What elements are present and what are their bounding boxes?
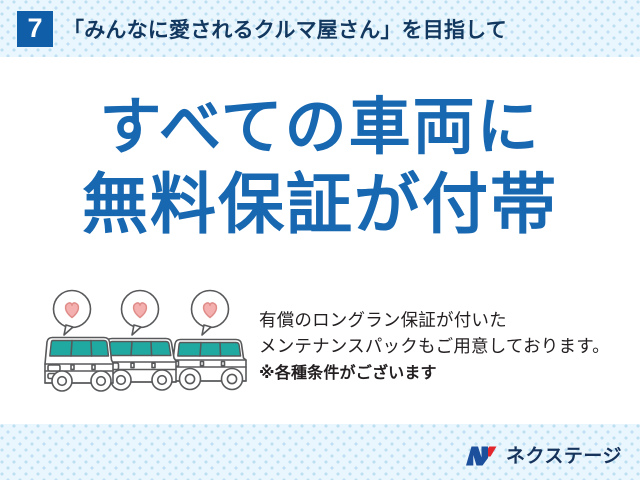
headline: すべての車両に 無料保証が付帯 (0, 97, 640, 237)
heart-bubble-3 (192, 291, 229, 336)
headline-line-2: 無料保証が付帯 (0, 171, 640, 237)
body-copy-line-2: メンテナンスパックもご用意しております。 (259, 333, 629, 359)
heart-bubble-1 (54, 291, 91, 336)
cars-illustration (40, 288, 255, 400)
car-suv-right (173, 340, 246, 390)
advertisement-banner: 7 「みんなに愛されるクルマ屋さん」を目指して すべての車両に 無料保証が付帯 (0, 0, 640, 480)
section-number-label: 7 (27, 15, 42, 42)
section-number-badge: 7 (17, 11, 53, 47)
header-title: 「みんなに愛されるクルマ屋さん」を目指して (63, 13, 507, 45)
car-minivan-middle (103, 339, 176, 391)
body-copy-line-1: 有償のロングラン保証が付いた (259, 307, 629, 333)
heart-bubble-2 (122, 291, 159, 336)
nextage-n-logo-icon (465, 444, 499, 468)
brand-logo: ネクステージ (465, 441, 622, 471)
car-wagon-left (45, 338, 113, 392)
headline-line-1: すべての車両に (0, 97, 640, 159)
body-copy-note: ※各種条件がございます (259, 361, 629, 387)
brand-name: ネクステージ (506, 447, 622, 466)
body-copy: 有償のロングラン保証が付いた メンテナンスパックもご用意しております。 ※各種条… (259, 307, 629, 387)
